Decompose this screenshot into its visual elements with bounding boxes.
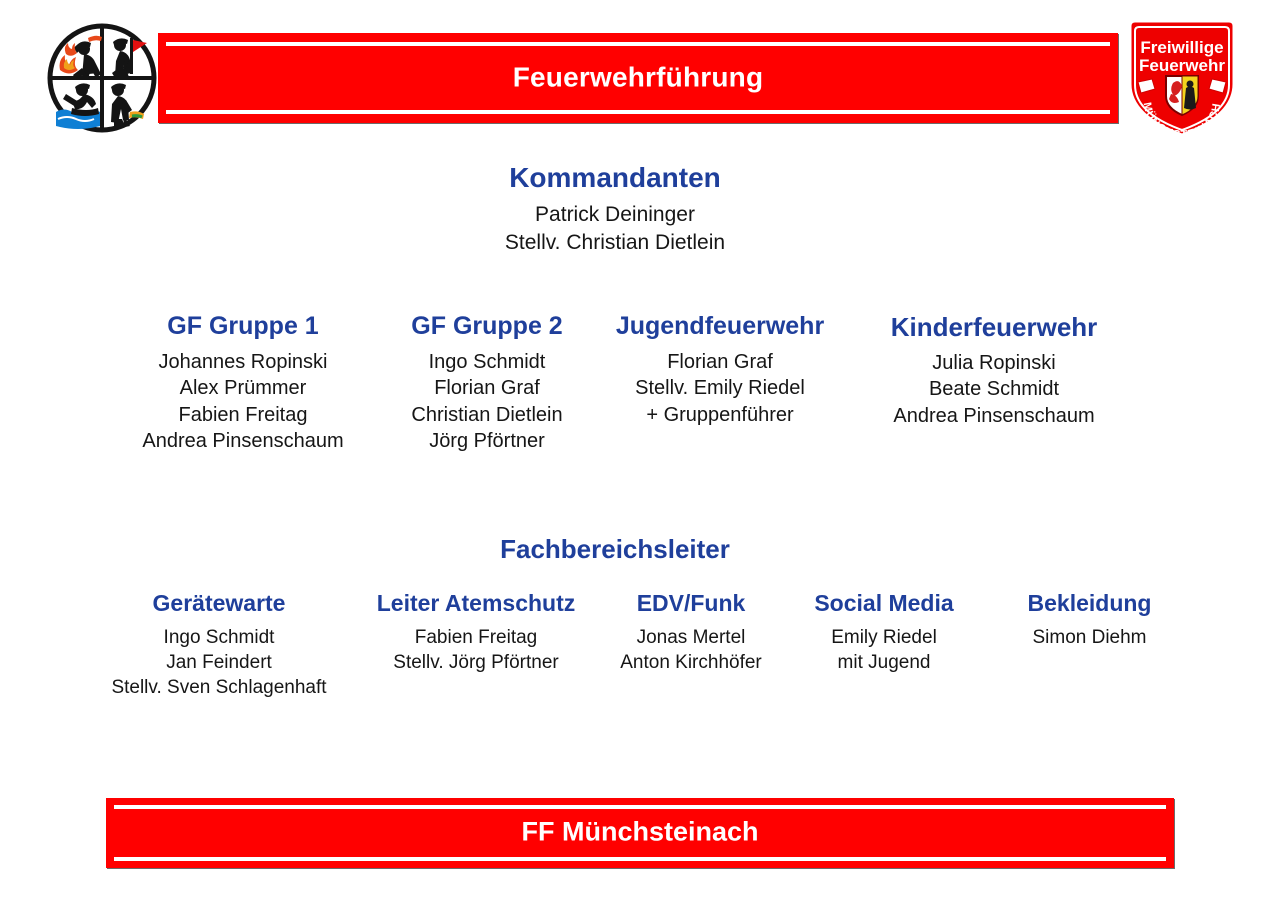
group-column-gf-gruppe-1: GF Gruppe 1 Johannes Ropinski Alex Prümm… xyxy=(108,313,378,455)
group-title: Jugendfeuerwehr xyxy=(596,313,844,340)
footer-title: FF Münchsteinach xyxy=(106,818,1174,845)
kommandanten-names: Patrick Deininger Stellv. Christian Diet… xyxy=(0,201,1230,256)
group-column-gf-gruppe-2: GF Gruppe 2 Ingo Schmidt Florian Graf Ch… xyxy=(378,313,596,455)
fachbereich-name: Ingo Schmidt xyxy=(82,625,356,650)
shield-line1: Freiwillige xyxy=(1140,38,1223,57)
group-name: Ingo Schmidt xyxy=(378,349,596,375)
fachbereich-column-leiter-atemschutz: Leiter Atemschutz Fabien Freitag Stellv.… xyxy=(356,591,596,675)
group-names: Johannes Ropinski Alex Prümmer Fabien Fr… xyxy=(108,349,378,455)
group-name: Beate Schmidt xyxy=(844,376,1144,402)
banner-stripe-upper xyxy=(166,42,1110,46)
group-name: Florian Graf xyxy=(378,375,596,401)
fachbereich-names: Emily Riedel mit Jugend xyxy=(786,625,982,675)
top-banner: Feuerwehrführung xyxy=(158,33,1118,123)
group-name: Andrea Pinsenschaum xyxy=(108,428,378,454)
group-name: Christian Dietlein xyxy=(378,402,596,428)
kommandanten-name: Stellv. Christian Dietlein xyxy=(0,229,1230,257)
fachbereich-title: Leiter Atemschutz xyxy=(356,591,596,616)
group-names: Ingo Schmidt Florian Graf Christian Diet… xyxy=(378,349,596,455)
fachbereich-name: Stellv. Sven Schlagenhaft xyxy=(82,675,356,700)
fachbereich-column-bekleidung: Bekleidung Simon Diehm xyxy=(982,591,1197,650)
page-title: Feuerwehrführung xyxy=(158,63,1118,91)
banner-stripe-lower xyxy=(166,110,1110,114)
fachbereich-column-social-media: Social Media Emily Riedel mit Jugend xyxy=(786,591,982,675)
group-name: Fabien Freitag xyxy=(108,402,378,428)
group-name: Stellv. Emily Riedel xyxy=(596,375,844,401)
group-name: Andrea Pinsenschaum xyxy=(844,403,1144,429)
group-row: GF Gruppe 1 Johannes Ropinski Alex Prümm… xyxy=(108,313,1168,455)
group-column-jugendfeuerwehr: Jugendfeuerwehr Florian Graf Stellv. Emi… xyxy=(596,313,844,428)
group-names: Julia Ropinski Beate Schmidt Andrea Pins… xyxy=(844,350,1144,429)
fachbereich-name: Emily Riedel xyxy=(786,625,982,650)
group-name: Alex Prümmer xyxy=(108,375,378,401)
kommandanten-title: Kommandanten xyxy=(0,163,1230,193)
fachbereich-title: Bekleidung xyxy=(982,591,1197,616)
fachbereich-title: Social Media xyxy=(786,591,982,616)
fachbereich-names: Ingo Schmidt Jan Feindert Stellv. Sven S… xyxy=(82,625,356,700)
header-zone: Feuerwehrführung Freiwillige Feuerwehr xyxy=(0,0,1280,150)
fachbereich-name: Simon Diehm xyxy=(982,625,1197,650)
group-names: Florian Graf Stellv. Emily Riedel + Grup… xyxy=(596,349,844,428)
fachbereich-name: Fabien Freitag xyxy=(356,625,596,650)
firefighter-circle-emblem xyxy=(44,20,160,136)
banner-stripe-lower xyxy=(114,857,1166,861)
group-column-kinderfeuerwehr: Kinderfeuerwehr Julia Ropinski Beate Sch… xyxy=(844,313,1144,429)
group-name: Julia Ropinski xyxy=(844,350,1144,376)
fachbereich-name: Anton Kirchhöfer xyxy=(596,650,786,675)
fachbereich-name: mit Jugend xyxy=(786,650,982,675)
fachbereich-title: EDV/Funk xyxy=(596,591,786,616)
ff-muenchsteinach-shield-emblem: Freiwillige Feuerwehr MÜNCHSTEINACH xyxy=(1124,16,1240,140)
fachbereich-name: Stellv. Jörg Pförtner xyxy=(356,650,596,675)
group-title: GF Gruppe 1 xyxy=(108,313,378,340)
group-name: Jörg Pförtner xyxy=(378,428,596,454)
kommandanten-name: Patrick Deininger xyxy=(0,201,1230,229)
fachbereichsleiter-title: Fachbereichsleiter xyxy=(0,535,1230,563)
group-name: Florian Graf xyxy=(596,349,844,375)
group-title: GF Gruppe 2 xyxy=(378,313,596,340)
fachbereich-name: Jan Feindert xyxy=(82,650,356,675)
banner-stripe-upper xyxy=(114,805,1166,809)
fachbereich-title: Gerätewarte xyxy=(82,591,356,616)
fachbereich-column-edv-funk: EDV/Funk Jonas Mertel Anton Kirchhöfer xyxy=(596,591,786,675)
group-title: Kinderfeuerwehr xyxy=(844,313,1144,341)
fachbereich-names: Simon Diehm xyxy=(982,625,1197,650)
fachbereichsleiter-row: Gerätewarte Ingo Schmidt Jan Feindert St… xyxy=(82,591,1197,700)
bottom-banner: FF Münchsteinach xyxy=(106,798,1174,868)
shield-line2: Feuerwehr xyxy=(1139,56,1225,75)
fachbereich-names: Jonas Mertel Anton Kirchhöfer xyxy=(596,625,786,675)
group-name: Johannes Ropinski xyxy=(108,349,378,375)
fachbereichsleiter-heading-block: Fachbereichsleiter xyxy=(0,535,1230,563)
fachbereich-column-geraetewarte: Gerätewarte Ingo Schmidt Jan Feindert St… xyxy=(82,591,356,700)
kommandanten-block: Kommandanten Patrick Deininger Stellv. C… xyxy=(0,163,1230,257)
fachbereich-names: Fabien Freitag Stellv. Jörg Pförtner xyxy=(356,625,596,675)
fachbereich-name: Jonas Mertel xyxy=(596,625,786,650)
group-name: + Gruppenführer xyxy=(596,402,844,428)
